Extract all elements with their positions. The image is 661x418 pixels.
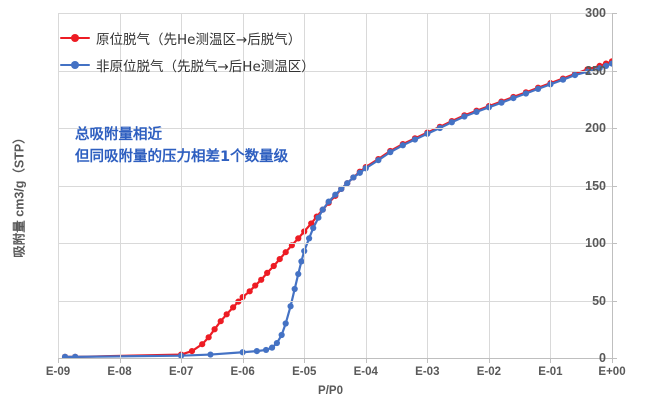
series-marker	[510, 95, 516, 101]
series-marker	[199, 341, 205, 347]
y-tick-mark	[612, 71, 617, 72]
series-line	[65, 64, 612, 357]
y-tick-mark	[612, 13, 617, 14]
x-tick-label: E-07	[151, 366, 211, 378]
series-marker	[287, 303, 293, 309]
series-marker	[254, 348, 260, 354]
y-tick-mark	[612, 186, 617, 187]
x-tick-label: E-02	[459, 366, 519, 378]
series-marker	[269, 345, 275, 351]
y-tick-label: 300	[566, 6, 606, 20]
x-tick-label: E-01	[520, 366, 580, 378]
y-tick-label: 150	[566, 179, 606, 193]
x-tick-label: E+00	[582, 366, 642, 378]
adsorption-isotherm-chart: 050100150200250300 E-09E-08E-07E-06E-05E…	[0, 0, 661, 418]
series-marker	[206, 334, 212, 340]
series-marker	[498, 100, 504, 106]
annotation-line-2: 但同吸附量的压力相差1个数量级	[75, 146, 288, 168]
x-tick-label: E-04	[336, 366, 396, 378]
series-marker	[326, 199, 332, 205]
series-marker	[274, 340, 280, 346]
x-tick-label: E-06	[213, 366, 273, 378]
x-tick-mark	[366, 358, 367, 363]
gridline-horizontal	[58, 13, 612, 14]
series-marker	[461, 113, 467, 119]
x-tick-mark	[304, 358, 305, 363]
series-marker	[375, 157, 381, 163]
series-marker	[279, 332, 285, 338]
x-tick-mark	[550, 358, 551, 363]
annotation-line-1: 总吸附量相近	[75, 124, 288, 146]
legend-dot	[71, 61, 79, 69]
series-marker	[523, 90, 529, 96]
x-tick-label: E-09	[28, 366, 88, 378]
series-marker	[560, 77, 566, 83]
legend-item-label: 非原位脱气（先脱气→后He测温区）	[96, 55, 315, 75]
y-tick-mark	[612, 128, 617, 129]
gridline-vertical	[489, 13, 490, 358]
x-tick-mark	[243, 358, 244, 363]
series-marker	[212, 326, 218, 332]
x-tick-mark	[612, 358, 613, 363]
series-marker	[224, 311, 230, 317]
series-marker	[218, 318, 224, 324]
series-marker	[271, 263, 277, 269]
x-tick-label: E-08	[90, 366, 150, 378]
series-marker	[235, 299, 241, 305]
series-marker	[292, 286, 298, 292]
series-1	[62, 58, 612, 358]
series-marker	[252, 282, 258, 288]
y-tick-label: 200	[566, 121, 606, 135]
x-tick-mark	[120, 358, 121, 363]
series-marker	[400, 142, 406, 148]
series-marker	[449, 119, 455, 125]
series-marker	[315, 215, 321, 221]
gridline-vertical	[550, 13, 551, 358]
series-marker	[295, 271, 301, 277]
y-tick-mark	[612, 243, 617, 244]
legend-item-2[interactable]: 非原位脱气（先脱气→后He测温区）	[60, 51, 315, 78]
series-marker	[283, 249, 289, 255]
series-marker	[387, 149, 393, 155]
series-marker	[247, 288, 253, 294]
y-tick-label: 50	[566, 294, 606, 308]
legend: 原位脱气（先He测温区→后脱气）非原位脱气（先脱气→后He测温区）	[60, 24, 315, 78]
series-marker	[535, 86, 541, 92]
series-marker	[310, 225, 316, 231]
x-tick-mark	[58, 358, 59, 363]
x-tick-mark	[427, 358, 428, 363]
x-tick-label: E-05	[274, 366, 334, 378]
x-axis-title: P/P0	[0, 385, 661, 397]
chart-annotation: 总吸附量相近 但同吸附量的压力相差1个数量级	[75, 124, 288, 169]
legend-dot	[71, 34, 79, 42]
series-marker	[306, 235, 312, 241]
x-axis-line	[58, 358, 612, 359]
series-marker	[189, 348, 195, 354]
gridline-horizontal	[58, 186, 612, 187]
series-line	[65, 61, 612, 357]
legend-marker-icon	[60, 32, 90, 44]
x-tick-mark	[489, 358, 490, 363]
legend-item-1[interactable]: 原位脱气（先He测温区→后脱气）	[60, 24, 315, 51]
y-tick-label: 250	[566, 64, 606, 78]
gridline-vertical	[366, 13, 367, 358]
series-marker	[264, 270, 270, 276]
series-marker	[357, 170, 363, 176]
series-marker	[277, 256, 283, 262]
series-marker	[263, 347, 269, 353]
series-marker	[332, 192, 338, 198]
y-tick-label: 100	[566, 236, 606, 250]
series-marker	[338, 186, 344, 192]
y-tick-label: 0	[566, 351, 606, 365]
series-2	[62, 61, 612, 359]
x-tick-mark	[181, 358, 182, 363]
series-marker	[230, 304, 236, 310]
series-marker	[412, 136, 418, 142]
gridline-vertical	[427, 13, 428, 358]
series-marker	[350, 174, 356, 180]
legend-item-label: 原位脱气（先He测温区→后脱气）	[96, 28, 301, 48]
y-tick-mark	[612, 301, 617, 302]
series-marker	[320, 207, 326, 213]
gridline-horizontal	[58, 243, 612, 244]
series-marker	[473, 109, 479, 115]
series-marker	[295, 235, 301, 241]
gridline-horizontal	[58, 301, 612, 302]
legend-marker-icon	[60, 59, 90, 71]
y-axis-title: 吸附量 cm3/g（STP）	[9, 95, 28, 295]
x-tick-label: E-03	[397, 366, 457, 378]
gridline-vertical	[58, 13, 59, 358]
series-marker	[258, 277, 264, 283]
series-marker	[207, 351, 213, 357]
series-marker	[283, 320, 289, 326]
